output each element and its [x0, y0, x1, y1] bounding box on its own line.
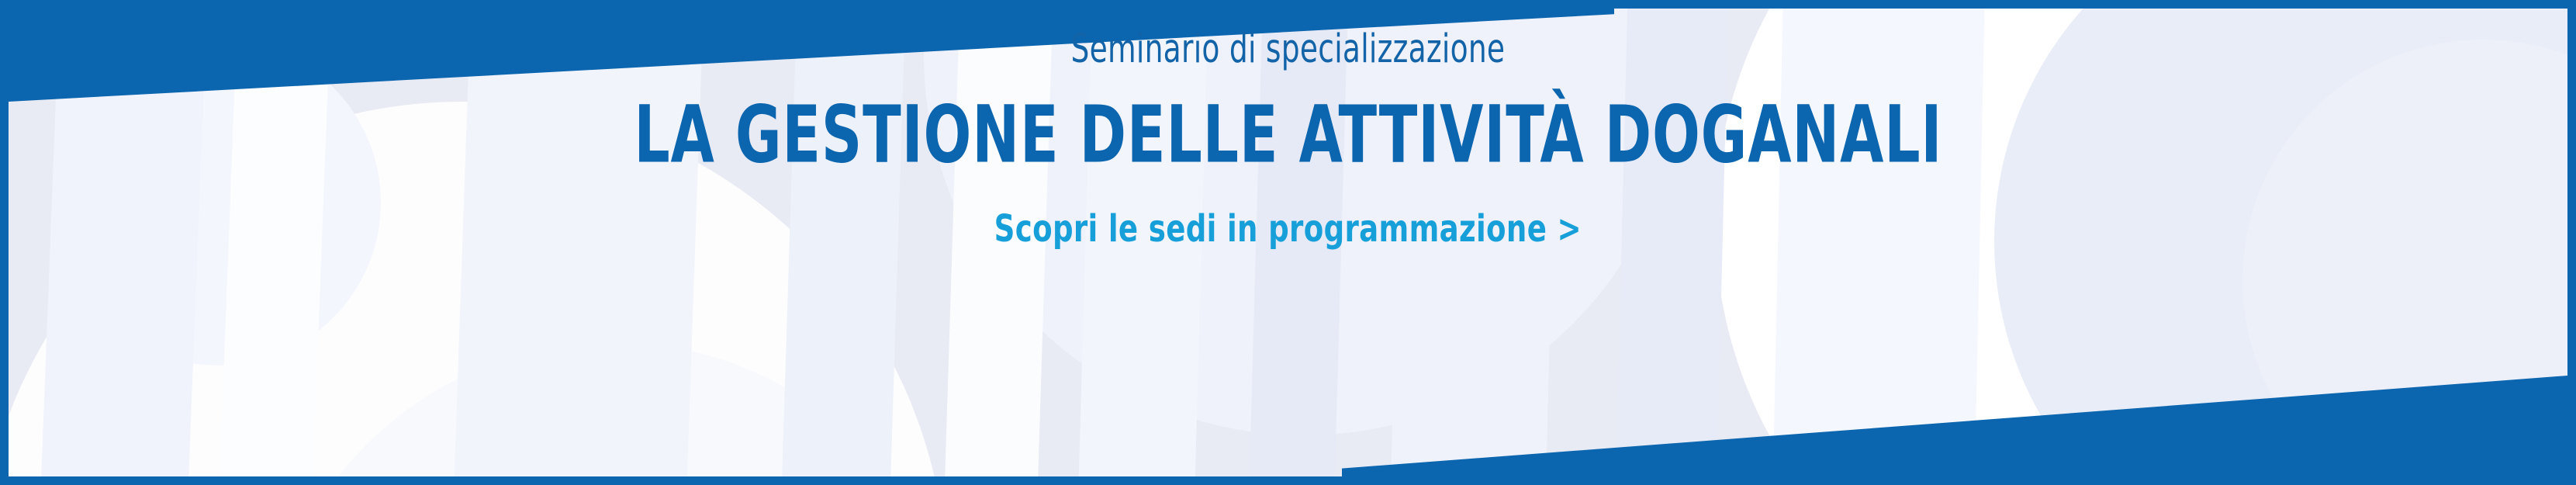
banner-headline: LA GESTIONE DELLE ATTIVITÀ DOGANALI: [634, 95, 1942, 176]
banner-panel: Seminario di specializzazione LA GESTION…: [9, 9, 2567, 476]
discover-locations-link[interactable]: Scopri le sedi in programmazione >: [994, 210, 1582, 248]
promo-banner: Seminario di specializzazione LA GESTION…: [0, 0, 2576, 485]
banner-content: Seminario di specializzazione LA GESTION…: [9, 9, 2567, 476]
banner-kicker: Seminario di specializzazione: [1071, 29, 1506, 71]
